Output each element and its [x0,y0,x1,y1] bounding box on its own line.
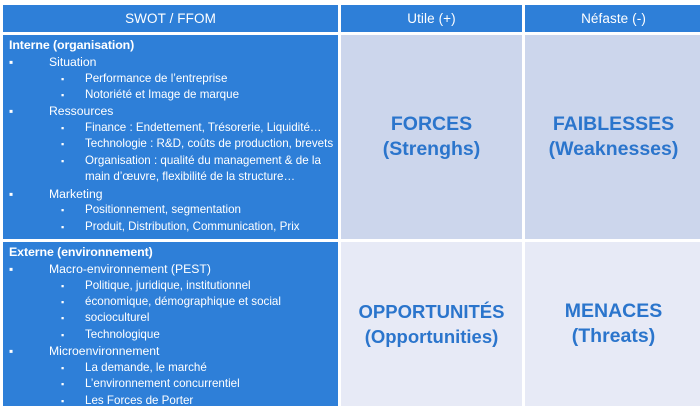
bullet-icon: ▪ [9,186,13,203]
quadrant-threats: MENACES (Threats) [525,242,700,406]
list-item: ▪ L’environnement concurrentiel [43,376,334,392]
header-label-swot: SWOT / FFOM [125,11,216,26]
sub-list: ▪ La demande, le marché ▪ L’environnemen… [49,360,334,406]
bullet-icon: ▪ [9,261,13,278]
list-item: ▪ Organisation : qualité du management &… [43,153,334,186]
bullet-icon: ▪ [61,136,64,152]
bullet-icon: ▪ [61,393,64,406]
list-item: ▪ Technologie : R&D, coûts de production… [43,136,334,152]
sub-item-label: économique, démographique et social [85,295,281,308]
group-label: Marketing [49,187,103,201]
sub-item-label: Technologique [85,328,160,341]
bullet-icon: ▪ [61,120,64,136]
sub-item-label: Notoriété et Image de marque [85,88,239,101]
swot-matrix: SWOT / FFOM Utile (+) Néfaste (-) Intern… [3,5,696,406]
list-item: ▪ Positionnement, segmentation [43,202,334,218]
sub-item-label: Les Forces de Porter [85,394,193,406]
quadrant-title: OPPORTUNITÉS [359,299,505,324]
sub-item-label: Finance : Endettement, Trésorerie, Liqui… [85,121,322,134]
bullet-icon: ▪ [61,278,64,294]
bullet-icon: ▪ [61,153,64,169]
external-factors-cell: Externe (environnement) ▪ Macro-environn… [3,242,338,406]
header-cell-swot: SWOT / FFOM [3,5,338,32]
bullet-icon: ▪ [9,103,13,120]
internal-title: Interne (organisation) [9,38,334,53]
internal-factors-cell: Interne (organisation) ▪ Situation ▪ Per… [3,35,338,239]
bullet-icon: ▪ [61,71,64,87]
list-item: ▪ Produit, Distribution, Communication, … [43,219,334,235]
header-cell-useful: Utile (+) [341,5,522,32]
bullet-icon: ▪ [61,87,64,103]
sub-item-label: Politique, juridique, institutionnel [85,279,251,292]
header-label-useful: Utile (+) [407,11,456,26]
bullet-icon: ▪ [61,360,64,376]
sub-item-label: Performance de l’entreprise [85,72,227,85]
sub-item-label: Produit, Distribution, Communication, Pr… [85,220,300,233]
sub-list: ▪ Performance de l’entreprise ▪ Notoriét… [49,71,334,104]
quadrant-subtitle: (Strenghs) [383,137,481,162]
quadrant-subtitle: (Opportunities) [365,324,499,349]
quadrant-title: FORCES [391,112,472,137]
group-label: Ressources [49,104,113,118]
list-item: ▪ économique, démographique et social [43,294,334,310]
bullet-icon: ▪ [61,310,64,326]
quadrant-title: MENACES [565,299,663,324]
group-label: Situation [49,55,96,69]
group-label: Macro-environnement (PEST) [49,262,211,276]
list-item: ▪ Notoriété et Image de marque [43,87,334,103]
list-item: ▪ La demande, le marché [43,360,334,376]
list-item: ▪ Technologique [43,327,334,343]
group-label: Microenvironnement [49,344,159,358]
internal-group-list: ▪ Situation ▪ Performance de l’entrepris… [7,54,334,235]
bullet-icon: ▪ [61,376,64,392]
quadrant-opportunities: OPPORTUNITÉS (Opportunities) [341,242,522,406]
list-item: ▪ Politique, juridique, institutionnel [43,278,334,294]
bullet-icon: ▪ [61,202,64,218]
list-item: ▪ Finance : Endettement, Trésorerie, Liq… [43,120,334,136]
list-item: ▪ Ressources ▪ Finance : Endettement, Tr… [7,103,334,185]
quadrant-strengths: FORCES (Strenghs) [341,35,522,239]
list-item: ▪ Microenvironnement ▪ La demande, le ma… [7,343,334,406]
sub-list: ▪ Politique, juridique, institutionnel ▪… [49,278,334,344]
header-label-harmful: Néfaste (-) [581,11,646,26]
external-title: Externe (environnement) [9,245,334,260]
quadrant-subtitle: (Weaknesses) [549,137,679,162]
sub-item-label: Positionnement, segmentation [85,203,241,216]
list-item: ▪ Performance de l’entreprise [43,71,334,87]
sub-item-label: socioculturel [85,311,149,324]
list-item: ▪ Les Forces de Porter [43,393,334,406]
bullet-icon: ▪ [9,343,13,360]
sub-list: ▪ Positionnement, segmentation ▪ Produit… [49,202,334,235]
list-item: ▪ Macro-environnement (PEST) ▪ Politique… [7,261,334,343]
sub-item-label: Technologie : R&D, coûts de production, … [85,137,333,150]
sub-item-label: La demande, le marché [85,361,207,374]
external-group-list: ▪ Macro-environnement (PEST) ▪ Politique… [7,261,334,406]
sub-item-label: L’environnement concurrentiel [85,377,240,390]
list-item: ▪ Situation ▪ Performance de l’entrepris… [7,54,334,103]
sub-list: ▪ Finance : Endettement, Trésorerie, Liq… [49,120,334,186]
quadrant-subtitle: (Threats) [572,324,655,349]
bullet-icon: ▪ [61,327,64,343]
list-item: ▪ Marketing ▪ Positionnement, segmentati… [7,186,334,235]
sub-item-label: Organisation : qualité du management & d… [85,154,321,183]
bullet-icon: ▪ [61,294,64,310]
bullet-icon: ▪ [9,54,13,71]
quadrant-title: FAIBLESSES [553,112,674,137]
header-cell-harmful: Néfaste (-) [525,5,700,32]
bullet-icon: ▪ [61,219,64,235]
list-item: ▪ socioculturel [43,310,334,326]
quadrant-weaknesses: FAIBLESSES (Weaknesses) [525,35,700,239]
